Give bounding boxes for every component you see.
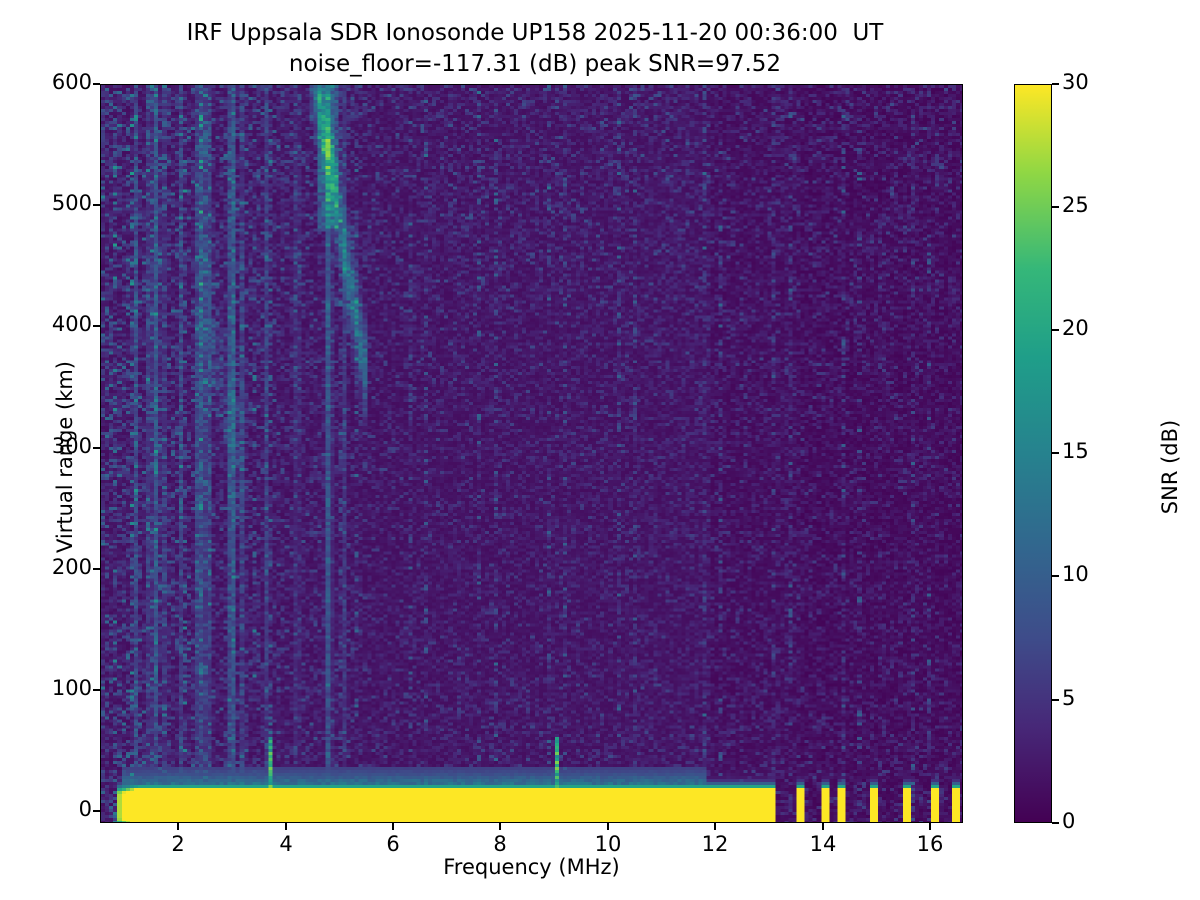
x-tick-label: 2: [148, 832, 208, 856]
colorbar-tick-mark: [1052, 822, 1059, 823]
colorbar-tick-mark: [1052, 206, 1059, 207]
colorbar-tick-label: 20: [1062, 316, 1089, 340]
x-tick-mark: [822, 823, 823, 830]
x-tick-label: 10: [578, 832, 638, 856]
x-tick-mark: [499, 823, 500, 830]
x-tick-label: 12: [685, 832, 745, 856]
x-tick-mark: [392, 823, 393, 830]
colorbar-tick-mark: [1052, 575, 1059, 576]
colorbar-tick-mark: [1052, 699, 1059, 700]
y-tick-mark: [93, 325, 100, 326]
x-tick-mark: [177, 823, 178, 830]
y-tick-mark: [93, 447, 100, 448]
colorbar-tick-mark: [1052, 329, 1059, 330]
title-line-2: noise_floor=-117.31 (dB) peak SNR=97.52: [0, 49, 1070, 80]
y-tick-mark: [93, 83, 100, 84]
heatmap-plot-area: [100, 84, 963, 823]
colorbar-tick-label: 15: [1062, 439, 1089, 463]
colorbar-tick-label: 0: [1062, 809, 1075, 833]
y-axis-label: Virtual range (km): [53, 87, 77, 827]
colorbar-gradient: [1015, 85, 1051, 822]
x-tick-mark: [929, 823, 930, 830]
y-tick-mark: [93, 568, 100, 569]
y-tick-mark: [93, 204, 100, 205]
y-tick-mark: [93, 689, 100, 690]
ionogram-figure: IRF Uppsala SDR Ionosonde UP158 2025-11-…: [0, 0, 1200, 900]
y-tick-mark: [93, 810, 100, 811]
colorbar-tick-label: 10: [1062, 562, 1089, 586]
colorbar: [1014, 84, 1052, 823]
x-tick-label: 4: [256, 832, 316, 856]
figure-title: IRF Uppsala SDR Ionosonde UP158 2025-11-…: [0, 18, 1070, 80]
x-tick-label: 6: [363, 832, 423, 856]
colorbar-tick-label: 30: [1062, 70, 1089, 94]
title-line-1: IRF Uppsala SDR Ionosonde UP158 2025-11-…: [0, 18, 1070, 49]
x-tick-label: 8: [470, 832, 530, 856]
colorbar-label: SNR (dB): [1158, 257, 1182, 677]
colorbar-tick-label: 25: [1062, 193, 1089, 217]
x-axis-label: Frequency (MHz): [100, 855, 963, 879]
y-tick-label: 0: [79, 797, 92, 821]
ionogram-heatmap-canvas: [101, 85, 962, 822]
colorbar-tick-label: 5: [1062, 686, 1075, 710]
x-tick-label: 14: [793, 832, 853, 856]
x-tick-mark: [285, 823, 286, 830]
colorbar-tick-mark: [1052, 452, 1059, 453]
colorbar-tick-mark: [1052, 83, 1059, 84]
x-tick-mark: [714, 823, 715, 830]
x-tick-mark: [607, 823, 608, 830]
x-tick-label: 16: [900, 832, 960, 856]
